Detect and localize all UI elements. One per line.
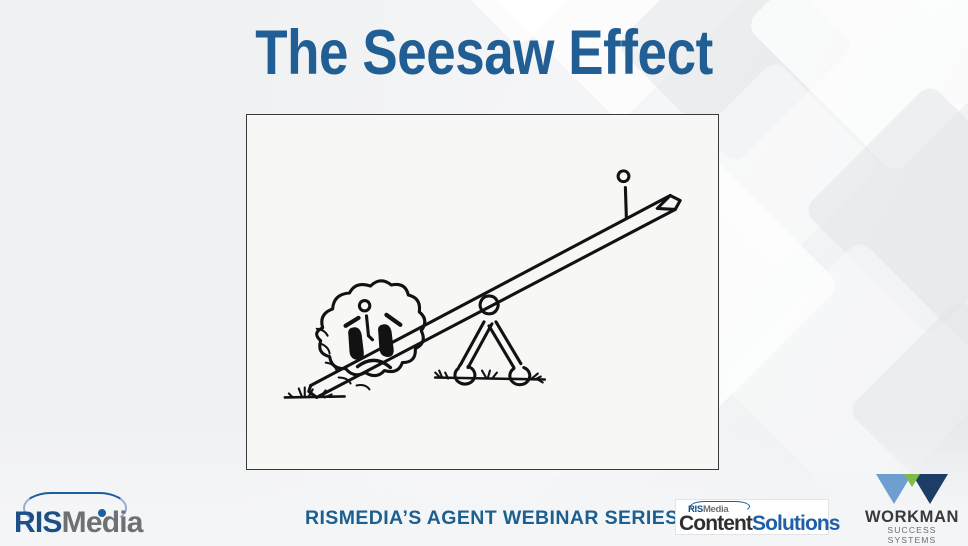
rismedia-wordmark-ris: RIS: [14, 506, 62, 539]
seesaw-cartoon-drawing: [247, 115, 718, 469]
workman-success-systems-logo: WORKMAN SUCCESS SYSTEMS: [862, 474, 962, 540]
workman-w-mark-icon: [876, 474, 948, 508]
contentsolutions-logo: RISMedia ContentSolutions: [676, 500, 828, 534]
contentsolutions-wordmark-content: Content: [679, 512, 752, 535]
rismedia-wordmark: RISMedia: [14, 506, 143, 540]
contentsolutions-wordmark: ContentSolutions: [679, 512, 840, 536]
seesaw-cartoon-image: [246, 114, 719, 470]
slide-canvas: The Seesaw Effect: [0, 0, 968, 546]
footer-caption: RISMEDIA’S AGENT WEBINAR SERIES: [305, 507, 679, 530]
workman-subtitle: SUCCESS SYSTEMS: [862, 525, 962, 545]
page-title: The Seesaw Effect: [77, 22, 890, 85]
contentsolutions-wordmark-solutions: Solutions: [752, 512, 840, 535]
rismedia-logo: RISMedia: [14, 492, 140, 540]
rismedia-wordmark-media: Media: [62, 506, 143, 539]
